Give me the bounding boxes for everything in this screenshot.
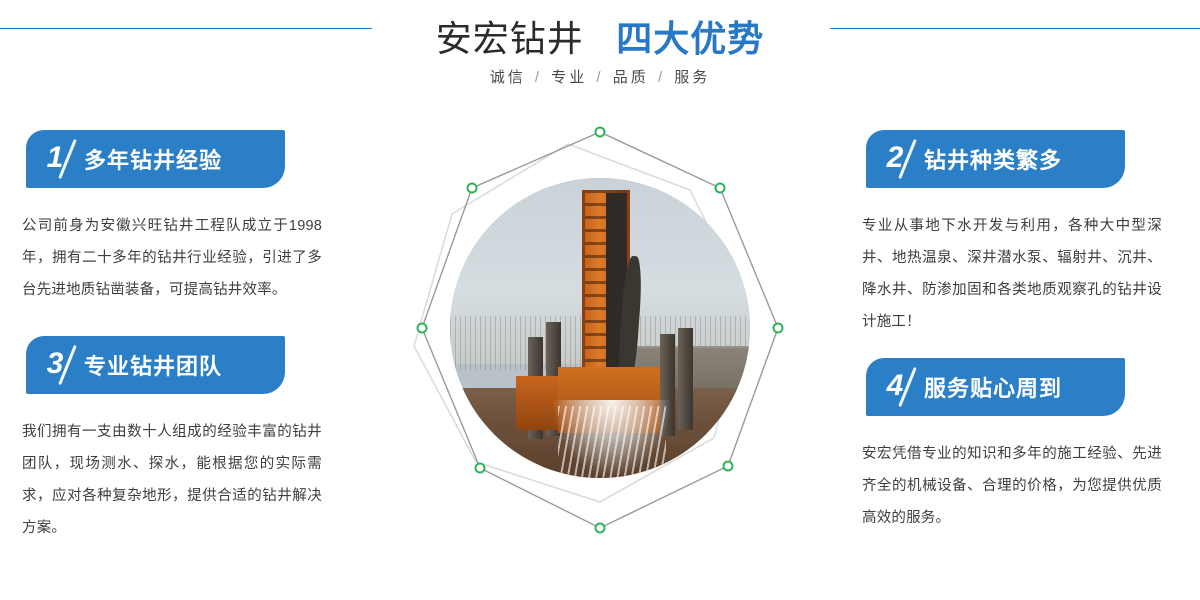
feature-card-4: 4 服务贴心周到 安宏凭借专业的知识和多年的施工经验、先进齐全的机械设备、合理的…: [840, 358, 1180, 534]
page-header: 安宏钻井 四大优势 诚信 / 专业 / 品质 / 服务: [0, 0, 1200, 110]
subtitle-item-2: 专业: [551, 69, 587, 86]
feature-body-3: 我们拥有一支由数十人组成的经验丰富的钻井团队，现场测水、探水，能根据您的实际需求…: [0, 416, 340, 544]
vertex-dot-w: [418, 324, 427, 333]
feature-title-1: 多年钻井经验: [84, 143, 222, 175]
page-title-accent: 四大优势: [616, 10, 764, 62]
drilling-rig-photo: [450, 178, 750, 478]
features-column-left: 1 多年钻井经验 公司前身为安徽兴旺钻井工程队成立于1998年，拥有二十多年的钻…: [0, 130, 340, 544]
page-title: 安宏钻井: [436, 10, 584, 62]
vertex-dot-s: [596, 524, 605, 533]
vertex-dot-e: [774, 324, 783, 333]
header-title-group: 安宏钻井 四大优势: [0, 10, 1200, 62]
feature-card-1: 1 多年钻井经验 公司前身为安徽兴旺钻井工程队成立于1998年，拥有二十多年的钻…: [0, 130, 340, 306]
header-subtitle: 诚信 / 专业 / 品质 / 服务: [0, 66, 1200, 87]
feature-badge-4[interactable]: 4 服务贴心周到: [866, 358, 1125, 416]
page-root: 安宏钻井 四大优势 诚信 / 专业 / 品质 / 服务 1 多年钻井经验 公司前…: [0, 0, 1200, 600]
features-column-right: 2 钻井种类繁多 专业从事地下水开发与利用，各种大中型深井、地热温泉、深井潜水泵…: [840, 130, 1180, 534]
feature-body-4: 安宏凭借专业的知识和多年的施工经验、先进齐全的机械设备、合理的价格，为您提供优质…: [840, 438, 1180, 534]
subtitle-separator-3: /: [658, 69, 665, 86]
feature-title-3: 专业钻井团队: [84, 349, 222, 381]
feature-badge-2[interactable]: 2 钻井种类繁多: [866, 130, 1125, 188]
photo-inner: [450, 178, 750, 478]
subtitle-separator-2: /: [596, 69, 603, 86]
subtitle-item-1: 诚信: [490, 69, 526, 86]
vertex-dot-n: [596, 128, 605, 137]
subtitle-item-3: 品质: [613, 69, 649, 86]
feature-title-2: 钻井种类繁多: [924, 143, 1062, 175]
feature-card-3: 3 专业钻井团队 我们拥有一支由数十人组成的经验丰富的钻井团队，现场测水、探水，…: [0, 336, 340, 544]
center-graphic: [380, 110, 820, 590]
subtitle-separator-1: /: [535, 69, 542, 86]
feature-card-2: 2 钻井种类繁多 专业从事地下水开发与利用，各种大中型深井、地热温泉、深井潜水泵…: [840, 130, 1180, 338]
photo-water-streaks: [558, 406, 666, 478]
subtitle-item-4: 服务: [674, 69, 710, 86]
feature-title-4: 服务贴心周到: [924, 371, 1062, 403]
feature-body-1: 公司前身为安徽兴旺钻井工程队成立于1998年，拥有二十多年的钻井行业经验，引进了…: [0, 210, 340, 306]
photo-rig-leg: [678, 328, 693, 430]
feature-badge-3[interactable]: 3 专业钻井团队: [26, 336, 285, 394]
feature-body-2: 专业从事地下水开发与利用，各种大中型深井、地热温泉、深井潜水泵、辐射井、沉井、降…: [840, 210, 1180, 338]
feature-badge-1[interactable]: 1 多年钻井经验: [26, 130, 285, 188]
